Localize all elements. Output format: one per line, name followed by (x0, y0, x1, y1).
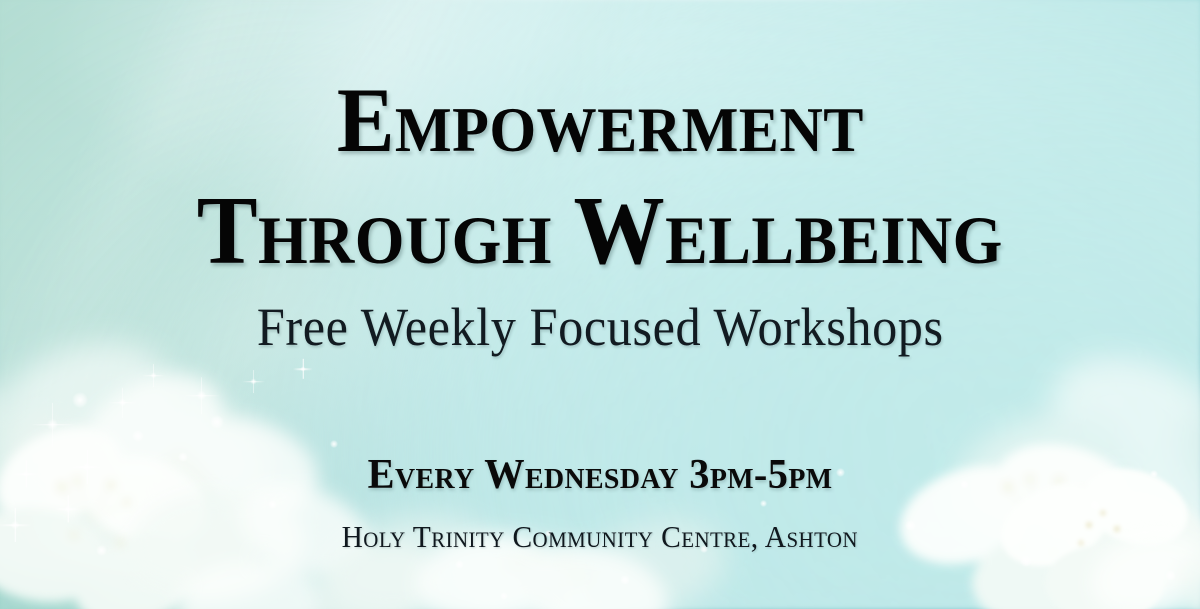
poster-venue: Holy Trinity Community Centre, Ashton (342, 519, 858, 555)
poster-text-block: Empowerment Through Wellbeing Free Weekl… (0, 0, 1200, 609)
poster-title-line-1: Empowerment (337, 74, 864, 166)
poster-datetime: Every Wednesday 3pm-5pm (368, 451, 833, 499)
poster-title-line-2: Through Wellbeing (197, 182, 1003, 279)
event-poster: Empowerment Through Wellbeing Free Weekl… (0, 0, 1200, 609)
poster-subtitle: Free Weekly Focused Workshops (257, 300, 944, 354)
